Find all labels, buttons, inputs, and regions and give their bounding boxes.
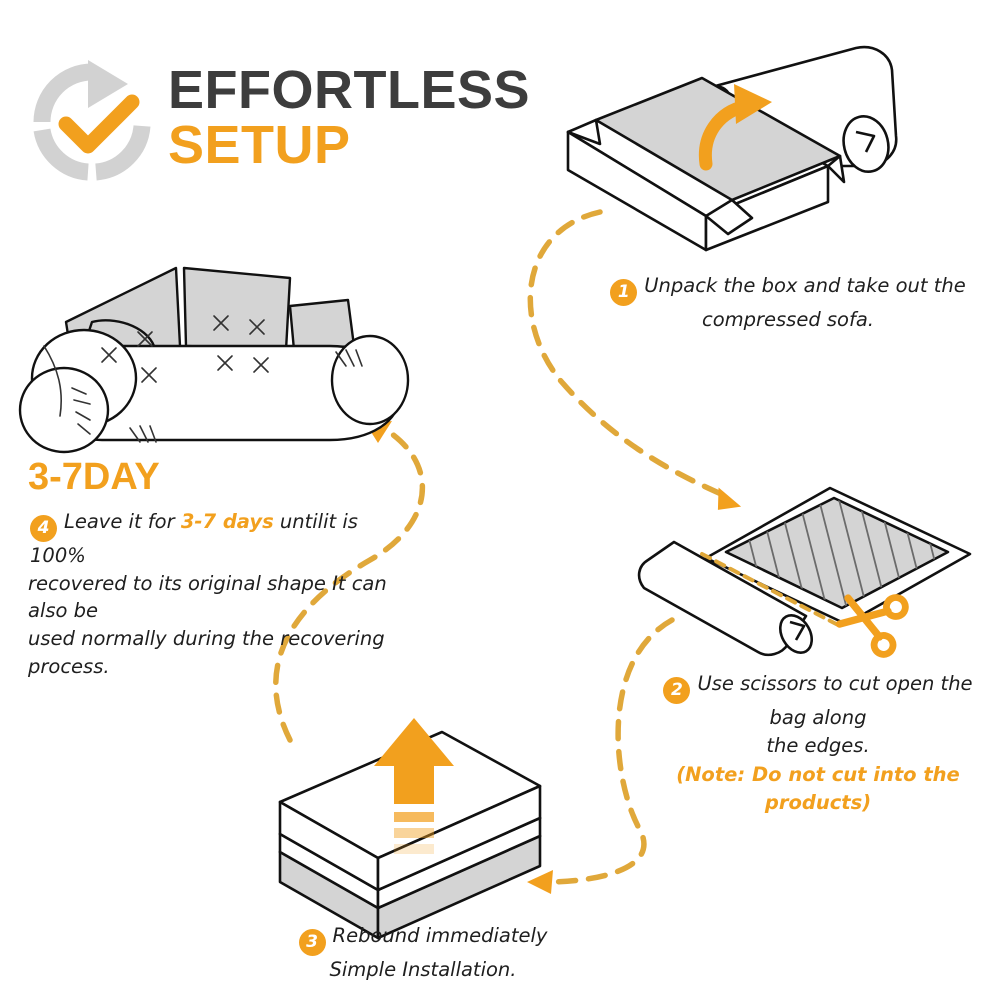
step-3-caption: 3Rebound immediately Simple Installation… [298,922,548,984]
step-2-badge: 2 [663,677,690,704]
step-1-caption: 1Unpack the box and take out the compres… [592,272,984,334]
step-4-caption: 4Leave it for 3-7 days untilit is 100% r… [30,508,390,680]
step-3-badge: 3 [299,929,326,956]
step-4-line-3: used normally during the recovering proc… [28,625,390,680]
step-4-line-2: recovered to its original shape It can a… [28,570,390,625]
step-3-line-1: Rebound immediately [333,924,548,947]
day-range-heading: 3-7DAY [28,458,160,496]
step-1-badge: 1 [610,279,637,306]
step-3-line-2: Simple Installation. [298,956,548,984]
illustration-foam-slab [268,712,568,924]
step-4-highlight: 3-7 days [181,510,274,533]
header: EFFORTLESS SETUP [28,52,548,192]
infographic-canvas: EFFORTLESS SETUP [0,0,1000,1000]
title-line-setup: SETUP [168,117,530,174]
refresh-check-icon [28,58,156,186]
illustration-carton-box [556,40,936,250]
page-title: EFFORTLESS SETUP [168,64,530,174]
title-line-effortless: EFFORTLESS [168,64,530,117]
step-1-line-1: Unpack the box and take out the [644,274,966,297]
illustration-recovered-sofa [18,250,428,460]
step-4-badge: 4 [30,515,57,542]
step-2-note: (Note: Do not cut into the products) [648,761,988,816]
step-2-caption: 2Use scissors to cut open the bag along … [648,670,988,817]
dashed-arrow-step1-to-step2 [530,212,730,498]
step-4-text-part1: Leave it for [64,510,181,533]
illustration-vacuum-bag [630,480,990,660]
step-1-line-2: compressed sofa. [592,306,984,334]
step-2-line-1: Use scissors to cut open the bag along [697,672,972,729]
step-2-line-2: the edges. [648,732,988,760]
